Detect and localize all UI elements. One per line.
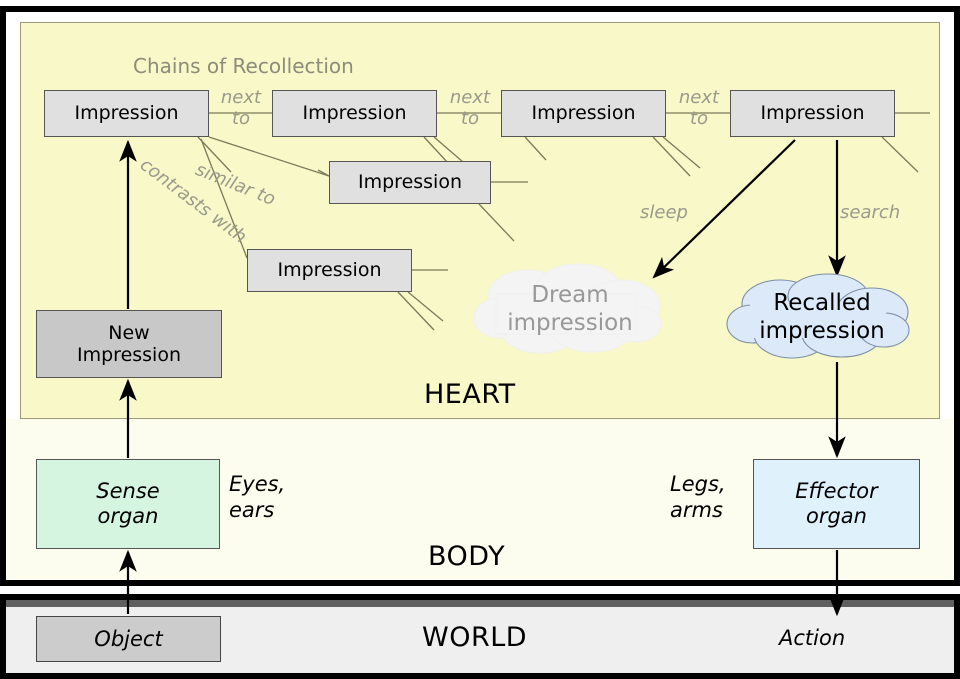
impression-box[interactable]: Impression (44, 90, 209, 137)
world-zone-label: WORLD (422, 622, 527, 653)
relation-next-to: next to (213, 88, 269, 129)
recalled-impression-cloud[interactable]: Recalled impression (724, 272, 920, 362)
recalled-impression-line1: Recalled (724, 290, 920, 318)
relation-next-to-line1: next (442, 88, 498, 109)
effector-organ-line2: organ (795, 504, 878, 529)
relation-next-to-line2: to (213, 109, 269, 130)
effector-organ-box[interactable]: Effector organ (753, 459, 920, 549)
sense-organ-line2: organ (96, 504, 159, 529)
new-impression-line2: Impression (77, 344, 181, 366)
legs-arms-line2: arms (670, 497, 726, 523)
relation-next-to: next to (671, 88, 727, 129)
effector-organ-line1: Effector (795, 479, 878, 504)
dream-impression-label: Dream impression (470, 282, 670, 337)
impression-box[interactable]: Impression (730, 90, 895, 137)
new-impression-line1: New (77, 322, 181, 344)
dream-impression-line2: impression (470, 310, 670, 338)
impression-box[interactable]: Impression (272, 90, 437, 137)
eyes-ears-line2: ears (229, 497, 285, 523)
relation-next-to-line2: to (442, 109, 498, 130)
chains-of-recollection-title: Chains of Recollection (133, 54, 354, 78)
recalled-impression-label: Recalled impression (724, 290, 920, 345)
sense-organ-line1: Sense (96, 479, 159, 504)
heart-zone-label: HEART (424, 379, 516, 410)
body-zone-label: BODY (428, 541, 505, 572)
legs-arms-line1: Legs, (670, 471, 726, 497)
object-box[interactable]: Object (36, 616, 221, 662)
relation-next-to-line2: to (671, 109, 727, 130)
world-top-shadow (6, 600, 954, 607)
process-label-sleep: sleep (640, 203, 688, 224)
eyes-ears-line1: Eyes, (229, 471, 285, 497)
relation-next-to: next to (442, 88, 498, 129)
dream-impression-line1: Dream (470, 282, 670, 310)
relation-next-to-line1: next (671, 88, 727, 109)
impression-box[interactable]: Impression (247, 249, 412, 292)
legs-arms-note: Legs, arms (670, 471, 726, 524)
action-label: Action (779, 626, 845, 650)
recalled-impression-line2: impression (724, 318, 920, 346)
impression-box[interactable]: Impression (329, 161, 491, 204)
diagram-canvas: Chains of Recollection Impression Impres… (0, 0, 960, 679)
eyes-ears-note: Eyes, ears (229, 471, 285, 524)
relation-next-to-line1: next (213, 88, 269, 109)
sense-organ-box[interactable]: Sense organ (36, 459, 220, 549)
new-impression-box[interactable]: New Impression (36, 310, 222, 378)
dream-impression-cloud[interactable]: Dream impression (470, 262, 670, 358)
process-label-search: search (840, 203, 900, 224)
impression-box[interactable]: Impression (501, 90, 666, 137)
